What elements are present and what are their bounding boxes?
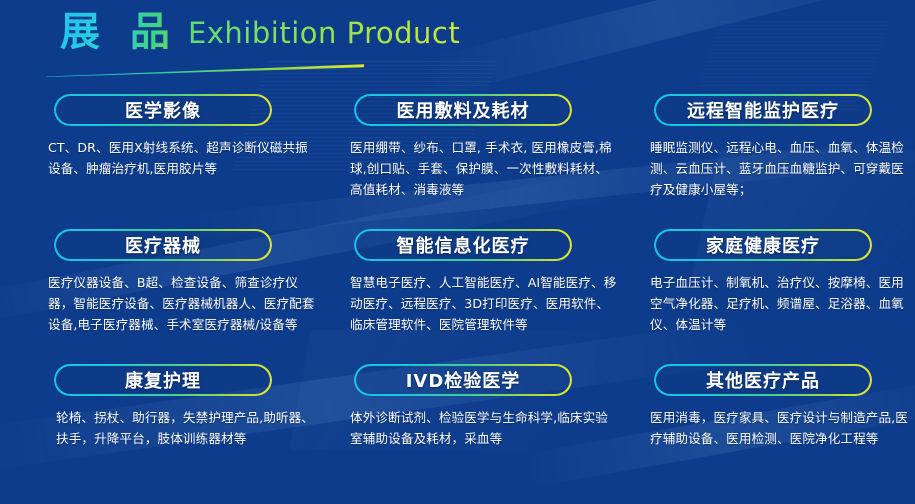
category-title: 智能信息化医疗 [397, 232, 530, 258]
category-description: 体外诊断试剂、检验医学与生命科学,临床实验室辅助设备及耗材，采血等 [350, 407, 620, 449]
category-pill[interactable]: 康复护理 [54, 364, 272, 396]
category-description: 医疗仪器设备、B超、检查设备、筛查诊疗仪器，智能医疗设备、医疗器械机器人、医疗配… [48, 272, 318, 335]
page-title-en: Exhibition Product [188, 14, 460, 56]
category-card[interactable]: 医学影像 CT、DR、医用X射线系统、超声诊断仪磁共振设备、肿瘤治疗机,医用胶片… [44, 94, 344, 229]
category-pill[interactable]: 智能信息化医疗 [354, 229, 572, 261]
category-description: 轮椅、拐杖、助行器，失禁护理产品,助听器、扶手，升降平台，肢体训练器材等 [56, 407, 326, 449]
category-pill[interactable]: 家庭健康医疗 [654, 229, 872, 261]
category-description: 智慧电子医疗、人工智能医疗、AI智能医疗、移动医疗、远程医疗、3D打印医疗、医用… [350, 272, 620, 335]
category-description: 医用消毒，医疗家具、医疗设计与制造产品,医疗辅助设备、医用检测、医院净化工程等 [650, 407, 912, 449]
category-title: 家庭健康医疗 [706, 232, 820, 258]
category-title: 其他医疗产品 [706, 367, 820, 393]
category-title: 医疗器械 [125, 232, 201, 258]
page-header: 展 品 Exhibition Product [60, 8, 460, 56]
category-card[interactable]: 家庭健康医疗 电子血压计、制氧机、治疗仪、按摩椅、医用空气净化器、足疗机、频谱屋… [644, 229, 915, 364]
category-description: 睡眠监测仪、远程心电、血压、血氧、体温检测、云血压计、蓝牙血压血糖监护、可穿戴医… [650, 137, 912, 200]
category-pill[interactable]: 远程智能监护医疗 [654, 94, 872, 126]
product-category-grid: 医学影像 CT、DR、医用X射线系统、超声诊断仪磁共振设备、肿瘤治疗机,医用胶片… [0, 94, 915, 494]
category-card[interactable]: 远程智能监护医疗 睡眠监测仪、远程心电、血压、血氧、体温检测、云血压计、蓝牙血压… [644, 94, 915, 229]
category-pill[interactable]: IVD检验医学 [354, 364, 572, 396]
page-title-cn: 展 品 [60, 8, 182, 56]
category-title: 医用敷料及耗材 [397, 97, 530, 123]
category-title: 医学影像 [125, 97, 201, 123]
category-pill[interactable]: 医用敷料及耗材 [354, 94, 572, 126]
category-title: 远程智能监护医疗 [687, 97, 839, 123]
category-card[interactable]: 医用敷料及耗材 医用绷带、纱布、口罩, 手术衣, 医用橡皮膏,棉球,创口贴、手套… [344, 94, 644, 229]
category-card[interactable]: IVD检验医学 体外诊断试剂、检验医学与生命科学,临床实验室辅助设备及耗材，采血… [344, 364, 644, 494]
category-pill[interactable]: 其他医疗产品 [654, 364, 872, 396]
category-card[interactable]: 其他医疗产品 医用消毒，医疗家具、医疗设计与制造产品,医疗辅助设备、医用检测、医… [644, 364, 915, 494]
category-pill[interactable]: 医学影像 [54, 94, 272, 126]
category-title: IVD检验医学 [406, 367, 521, 393]
category-pill[interactable]: 医疗器械 [54, 229, 272, 261]
category-card[interactable]: 康复护理 轮椅、拐杖、助行器，失禁护理产品,助听器、扶手，升降平台，肢体训练器材… [44, 364, 344, 494]
category-card[interactable]: 智能信息化医疗 智慧电子医疗、人工智能医疗、AI智能医疗、移动医疗、远程医疗、3… [344, 229, 644, 364]
title-underline-swoosh [46, 64, 364, 77]
category-description: CT、DR、医用X射线系统、超声诊断仪磁共振设备、肿瘤治疗机,医用胶片等 [48, 137, 318, 179]
category-title: 康复护理 [125, 367, 201, 393]
category-description: 电子血压计、制氧机、治疗仪、按摩椅、医用空气净化器、足疗机、频谱屋、足浴器、血氧… [650, 272, 912, 335]
category-card[interactable]: 医疗器械 医疗仪器设备、B超、检查设备、筛查诊疗仪器，智能医疗设备、医疗器械机器… [44, 229, 344, 364]
category-description: 医用绷带、纱布、口罩, 手术衣, 医用橡皮膏,棉球,创口贴、手套、保护膜、一次性… [350, 137, 620, 200]
